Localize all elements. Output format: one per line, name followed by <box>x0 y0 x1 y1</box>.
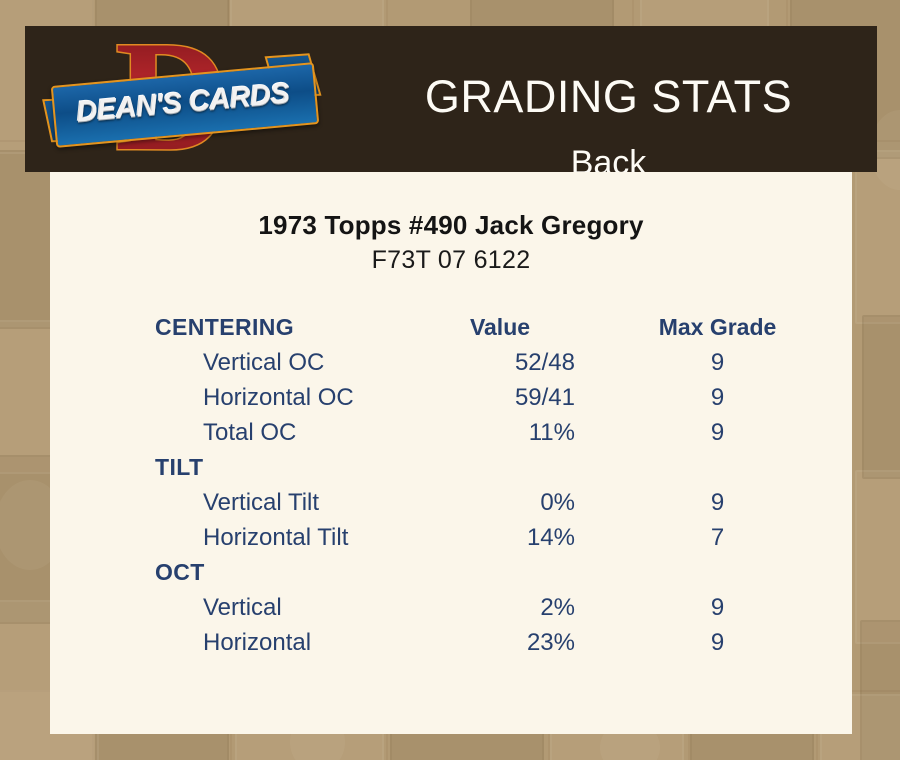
row-max-grade: 9 <box>635 345 800 380</box>
section-header-oct-row: OCT <box>50 555 852 590</box>
row-max-grade: 9 <box>635 625 800 660</box>
row-value: 11% <box>375 415 575 450</box>
section-header-tilt: TILT <box>155 450 505 485</box>
card-title: 1973 Topps #490 Jack Gregory <box>50 210 852 241</box>
deans-cards-logo[interactable]: D D DEAN'S CARDS <box>53 30 313 170</box>
row-max-grade: 9 <box>635 380 800 415</box>
grading-stats-table: CENTERING Value Max Grade Vertical OC 52… <box>50 310 852 660</box>
row-value: 2% <box>375 590 575 625</box>
table-row: Horizontal Tilt 14% 7 <box>50 520 852 555</box>
row-max-grade: 9 <box>635 590 800 625</box>
table-header-row: CENTERING Value Max Grade <box>50 310 852 345</box>
row-max-grade: 9 <box>635 415 800 450</box>
column-header-max-grade: Max Grade <box>635 310 800 345</box>
row-value: 52/48 <box>375 345 575 380</box>
table-row: Vertical Tilt 0% 9 <box>50 485 852 520</box>
section-header-tilt-row: TILT <box>50 450 852 485</box>
column-header-value: Value <box>425 310 575 345</box>
row-max-grade: 7 <box>635 520 800 555</box>
table-row: Horizontal 23% 9 <box>50 625 852 660</box>
content-panel: 1973 Topps #490 Jack Gregory F73T 07 612… <box>50 172 852 734</box>
page-title: GRADING STATS <box>315 72 900 122</box>
table-row: Vertical 2% 9 <box>50 590 852 625</box>
row-value: 0% <box>375 485 575 520</box>
row-value: 14% <box>375 520 575 555</box>
table-row: Total OC 11% 9 <box>50 415 852 450</box>
row-max-grade: 9 <box>635 485 800 520</box>
table-row: Horizontal OC 59/41 9 <box>50 380 852 415</box>
grading-stats-page: D D DEAN'S CARDS GRADING STATS Back 1973… <box>0 0 900 760</box>
row-value: 23% <box>375 625 575 660</box>
section-header-oct: OCT <box>155 555 505 590</box>
table-row: Vertical OC 52/48 9 <box>50 345 852 380</box>
header-band: D D DEAN'S CARDS GRADING STATS Back <box>25 26 877 172</box>
card-code: F73T 07 6122 <box>50 246 852 275</box>
row-value: 59/41 <box>375 380 575 415</box>
